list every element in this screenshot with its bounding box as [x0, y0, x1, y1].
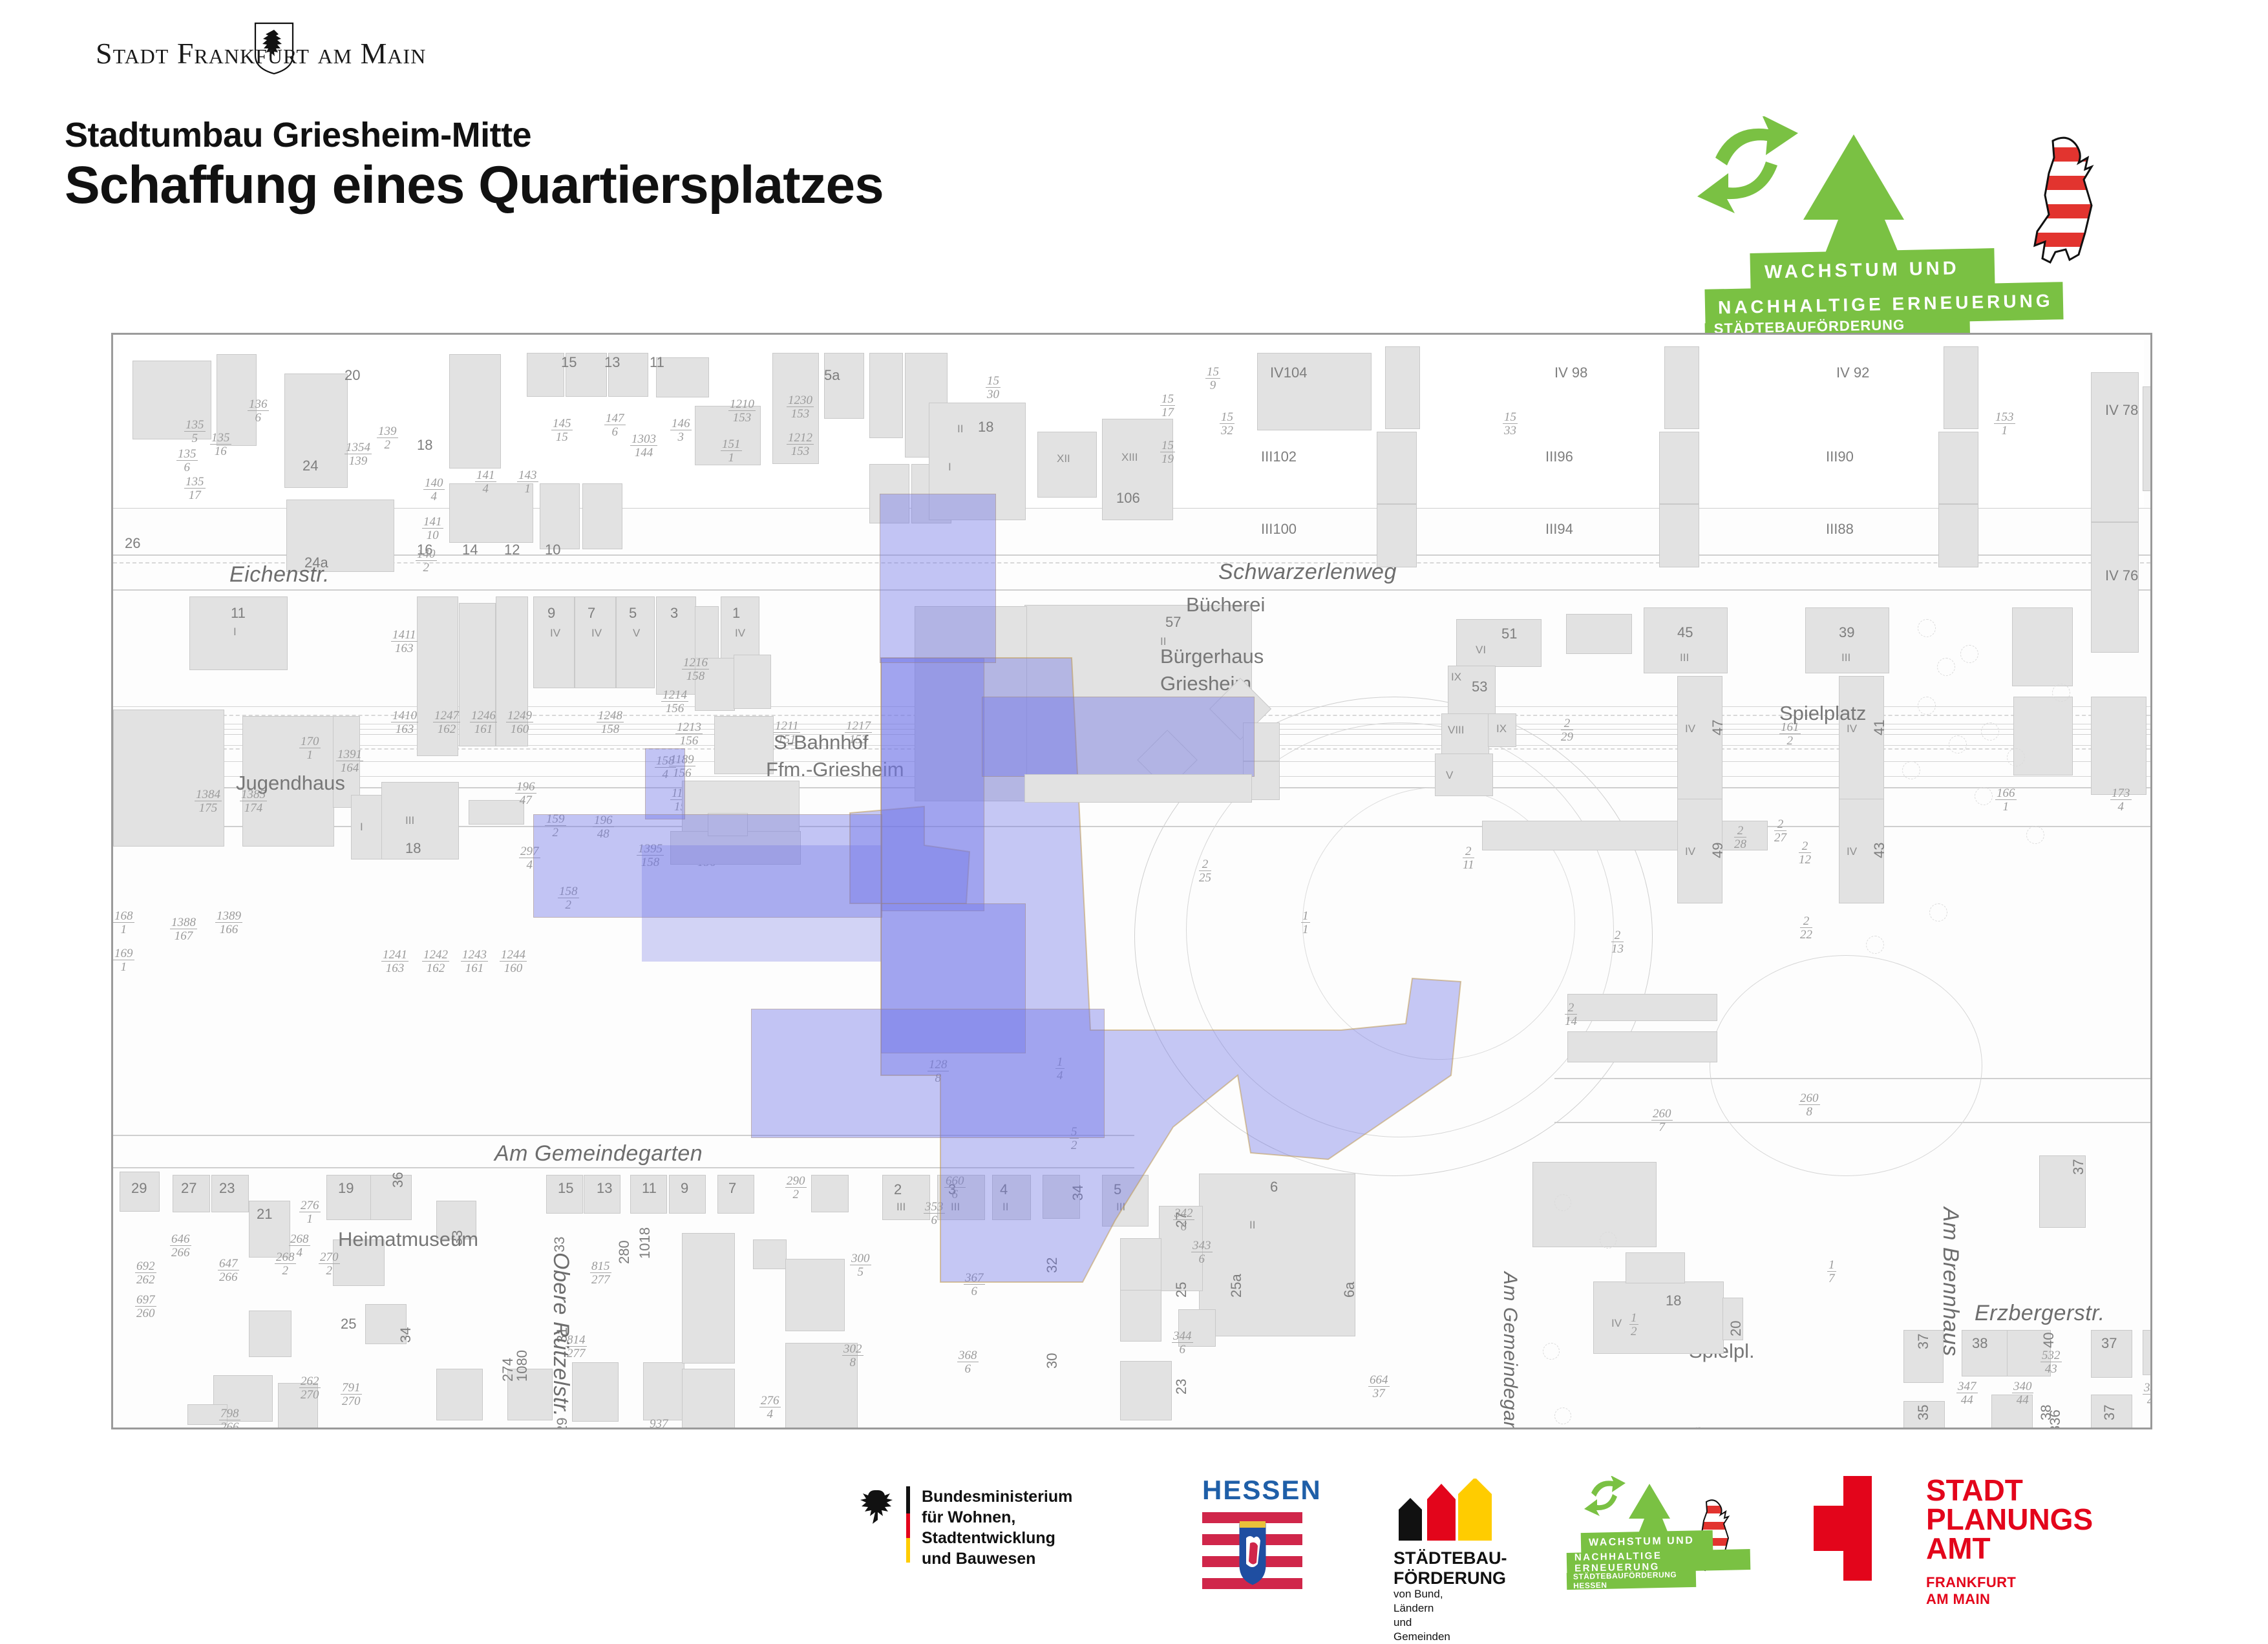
stf-title1: STÄDTEBAU-: [1394, 1548, 1507, 1568]
street-label-am-gemeindegarten: Am Gemeindegarten: [494, 1141, 703, 1166]
staedtebau-houses-icon: [1394, 1479, 1497, 1541]
footer-logo-wachstum: WACHSTUM UND NACHHALTIGE ERNEUERUNG STÄD…: [1577, 1476, 1777, 1592]
bundesadler-icon: [860, 1488, 896, 1528]
street-label-schwarzerlenweg: Schwarzerlenweg: [1218, 560, 1397, 585]
footer-badge-line3: STÄDTEBAUFÖRDERUNG HESSEN: [1567, 1570, 1697, 1590]
footer-logos: Bundesministerium für Wohnen, Stadtentwi…: [0, 1467, 2268, 1596]
map-canvas: 24 24a 26 20 18 16 14 12 10 15 13 11 135…: [113, 335, 2150, 1428]
stadtplanungsamt-mark-icon: [1810, 1476, 1911, 1581]
spa-line3: AMT: [1926, 1534, 2093, 1563]
street-label-erzbergerstr: Erzbergerstr.: [1975, 1301, 2105, 1326]
bm-line2: für Wohnen, Stadtentwicklung: [922, 1507, 1072, 1548]
footer-logo-hessen: HESSEN: [1202, 1475, 1322, 1603]
page-subtitle: Stadtumbau Griesheim-Mitte: [65, 115, 531, 155]
city-logo: Stadt Frankfurt am Main: [96, 31, 509, 75]
stf-title2: FÖRDERUNG: [1394, 1568, 1507, 1588]
city-logo-wordmark: Stadt Frankfurt am Main: [96, 36, 426, 70]
poi-label-spielplatz: Spielplatz: [1779, 702, 1866, 725]
hessen-flag-icon: [1202, 1510, 1302, 1600]
cadastral-map[interactable]: 24 24a 26 20 18 16 14 12 10 15 13 11 135…: [111, 333, 2152, 1429]
poi-label-jugendhaus: Jugendhaus: [236, 772, 345, 795]
stf-sub1: von Bund, Ländern und: [1394, 1587, 1450, 1630]
street-label-obere-ruetzelstr: Obere Rützelstr.: [548, 1252, 573, 1417]
street-label-eichenstr: Eichenstr.: [229, 562, 330, 587]
street-label-am-gemeindegarten-2: Am Gemeindegarten: [1499, 1272, 1521, 1429]
poi-label-s-bahnhof: S-Bahnhof: [774, 731, 869, 754]
hessen-wordmark: HESSEN: [1202, 1475, 1322, 1506]
stf-sub2: Gemeinden: [1394, 1630, 1450, 1644]
spa-sub: FRANKFURT AM MAIN: [1926, 1574, 2016, 1608]
bm-line1: Bundesministerium: [922, 1486, 1072, 1507]
page-title: Schaffung eines Quartiersplatzes: [65, 155, 884, 216]
poi-label-buecherei: Bücherei: [1186, 593, 1265, 616]
spa-line1: STADT: [1926, 1476, 2093, 1505]
hessen-lion-icon: [2015, 129, 2106, 265]
poi-label-buergerhaus: Bürgerhaus: [1160, 645, 1264, 668]
spa-line2: PLANUNGS: [1926, 1505, 2093, 1534]
bm-line3: und Bauwesen: [922, 1548, 1072, 1569]
